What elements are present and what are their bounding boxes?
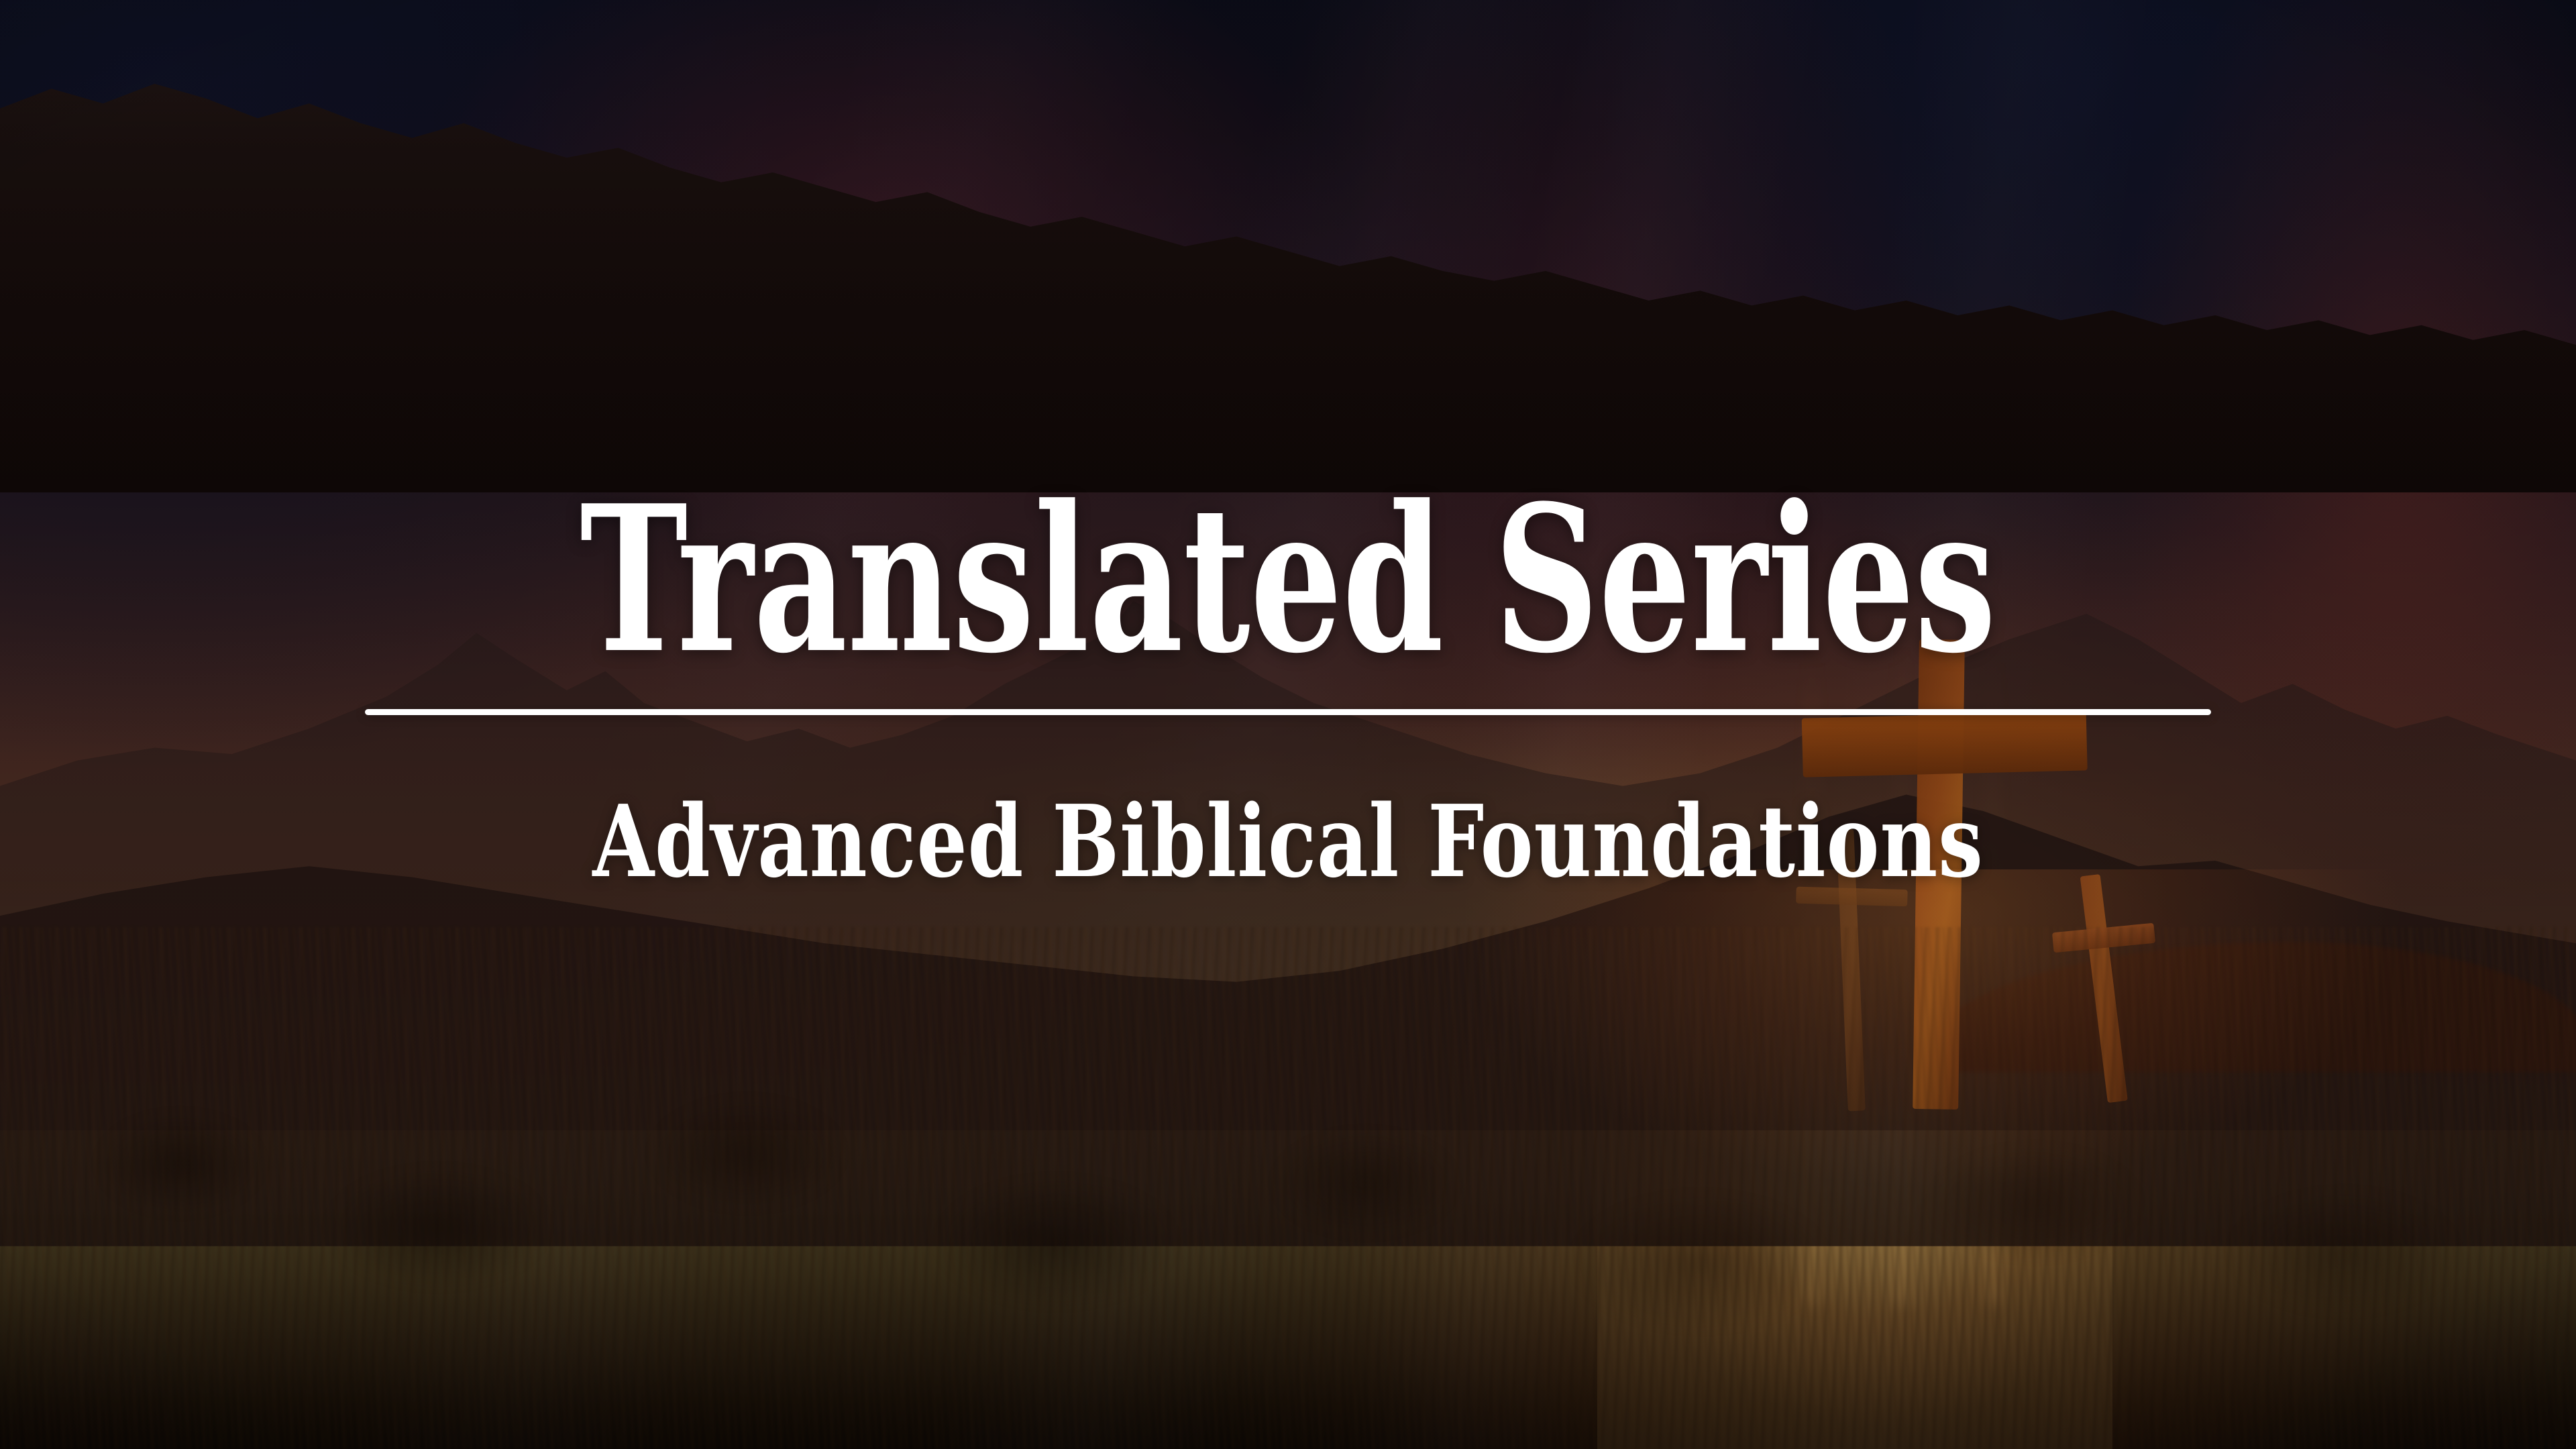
page-subtitle: Advanced Biblical Foundations — [258, 792, 2318, 891]
title-divider — [365, 709, 2211, 715]
title-block: Translated Series Advanced Biblical Foun… — [0, 493, 2576, 891]
slide-canvas: Translated Series Advanced Biblical Foun… — [0, 0, 2576, 1449]
foreground-sun-glow — [0, 869, 2576, 1449]
page-title: Translated Series — [361, 493, 2216, 666]
foreground-field — [0, 0, 2576, 492]
